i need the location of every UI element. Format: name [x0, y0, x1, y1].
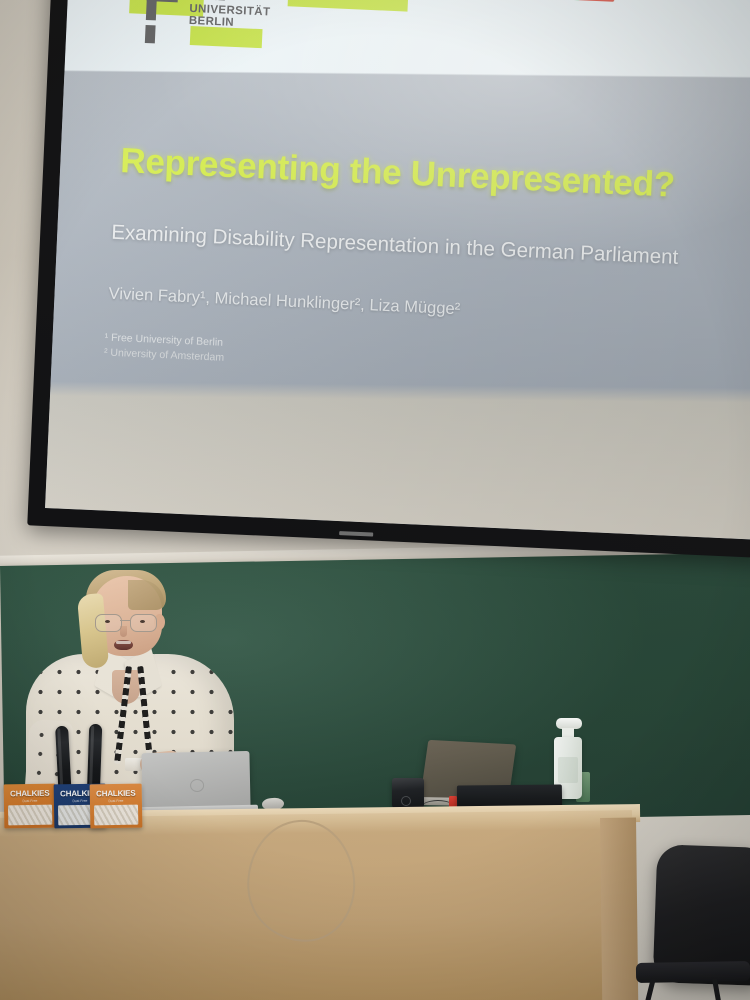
chalk-sticks-image — [8, 805, 52, 826]
projector-glare — [45, 0, 750, 540]
eye-left — [105, 620, 110, 623]
screen-sharing-banner: You are screen sharing Stop Share — [406, 0, 614, 2]
lens-right — [130, 614, 157, 632]
lecture-hall-photo: FREIE UNIVERSITÄT BERLIN 🎧 Test audio ▢ … — [0, 0, 750, 1000]
presentation-slide: FREIE UNIVERSITÄT BERLIN 🎧 Test audio ▢ … — [45, 0, 750, 540]
slide-subtitle: Examining Disability Representation in t… — [111, 221, 679, 270]
speaker-device — [392, 778, 424, 808]
lens-left — [95, 614, 122, 632]
slide-affiliation-2: ² University of Amsterdam — [104, 346, 225, 363]
slide-accent-block — [288, 0, 409, 12]
logo-dot-mark — [145, 25, 156, 43]
glasses — [94, 614, 160, 630]
chalk-brand-label: CHALKIES — [93, 789, 139, 799]
logo-wordmark: FREIE UNIVERSITÄT BERLIN — [189, 0, 272, 31]
chalk-brand-label: CHALKIES — [7, 789, 53, 799]
chalk-sub-label: Dust Free — [4, 799, 56, 804]
screen-surface: FREIE UNIVERSITÄT BERLIN 🎧 Test audio ▢ … — [45, 0, 750, 540]
glasses-bridge — [120, 620, 131, 621]
teeth — [116, 641, 131, 644]
chalk-sticks-image — [94, 805, 138, 826]
chalk-box-orange-left: CHALKIES Dust Free — [4, 784, 57, 829]
nose — [120, 626, 127, 637]
slide-affiliation-1: ¹ Free University of Berlin — [104, 331, 223, 348]
projection-screen: FREIE UNIVERSITÄT BERLIN 🎧 Test audio ▢ … — [27, 0, 750, 558]
chalk-box-orange-right: CHALKIES Dust Free — [90, 784, 143, 829]
fu-berlin-logo: FREIE UNIVERSITÄT BERLIN — [128, 0, 271, 51]
eye-right — [140, 620, 145, 623]
podium-side-panel — [600, 818, 638, 1000]
mouth — [114, 640, 133, 650]
chalk-sub-label: Dust Free — [90, 799, 142, 804]
stop-share-button[interactable]: Stop Share — [578, 0, 614, 2]
laptop-primary — [141, 751, 250, 811]
slide-title: Representing the Unrepresented? — [120, 141, 676, 206]
slide-authors: Vivien Fabry¹, Michael Hunklinger², Liza… — [108, 285, 460, 320]
logo-bracket-mark — [146, 0, 178, 21]
